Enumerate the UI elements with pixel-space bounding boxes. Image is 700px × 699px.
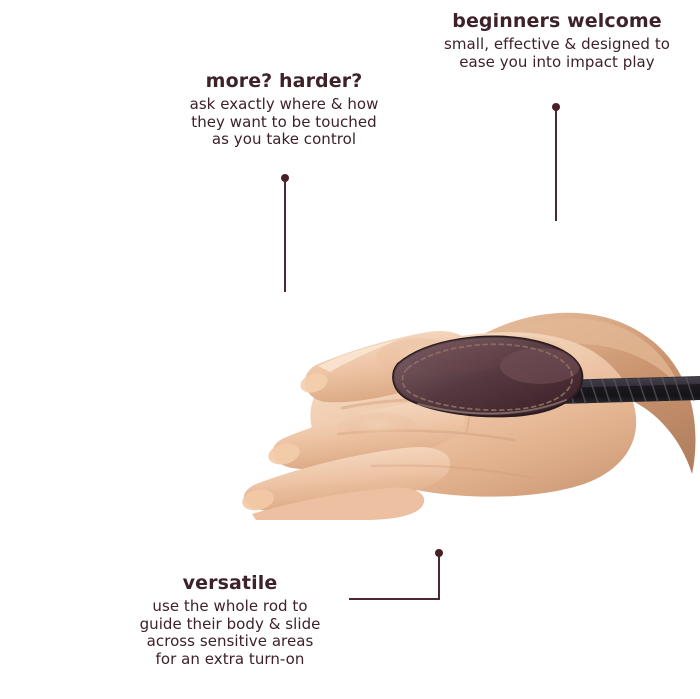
product-photo	[222, 288, 700, 520]
callout-body-line: ease you into impact play	[432, 54, 682, 72]
callout-heading: beginners welcome	[432, 10, 682, 32]
callout-body: small, effective & designed to ease you …	[432, 36, 682, 71]
callout-heading: more? harder?	[168, 70, 400, 92]
leader-dot	[552, 103, 560, 111]
callout-body: use the whole rod to guide their body & …	[108, 598, 352, 668]
leader-dot	[281, 174, 289, 182]
callout-body-line: as you take control	[168, 131, 400, 149]
callout-body-line: across sensitive areas	[108, 633, 352, 651]
callout-body-line: small, effective & designed to	[432, 36, 682, 54]
callout-versatile: versatile use the whole rod to guide the…	[108, 572, 352, 668]
leader-vertical-segment	[555, 110, 557, 221]
callout-body-line: ask exactly where & how	[168, 96, 400, 114]
infographic-canvas: beginners welcome small, effective & des…	[0, 0, 700, 699]
callout-beginners-welcome: beginners welcome small, effective & des…	[432, 10, 682, 71]
leader-horizontal-segment	[349, 598, 440, 600]
leader-vertical-segment	[284, 181, 286, 292]
callout-body-line: use the whole rod to	[108, 598, 352, 616]
callout-body-line: they want to be touched	[168, 114, 400, 132]
callout-body-line: for an extra turn-on	[108, 651, 352, 669]
callout-body: ask exactly where & how they want to be …	[168, 96, 400, 149]
callout-body-line: guide their body & slide	[108, 616, 352, 634]
callout-heading: versatile	[108, 572, 352, 594]
leader-dot	[435, 549, 443, 557]
leader-vertical-segment	[438, 556, 440, 600]
callout-more-harder: more? harder? ask exactly where & how th…	[168, 70, 400, 149]
leather-crop-tip	[393, 337, 582, 416]
